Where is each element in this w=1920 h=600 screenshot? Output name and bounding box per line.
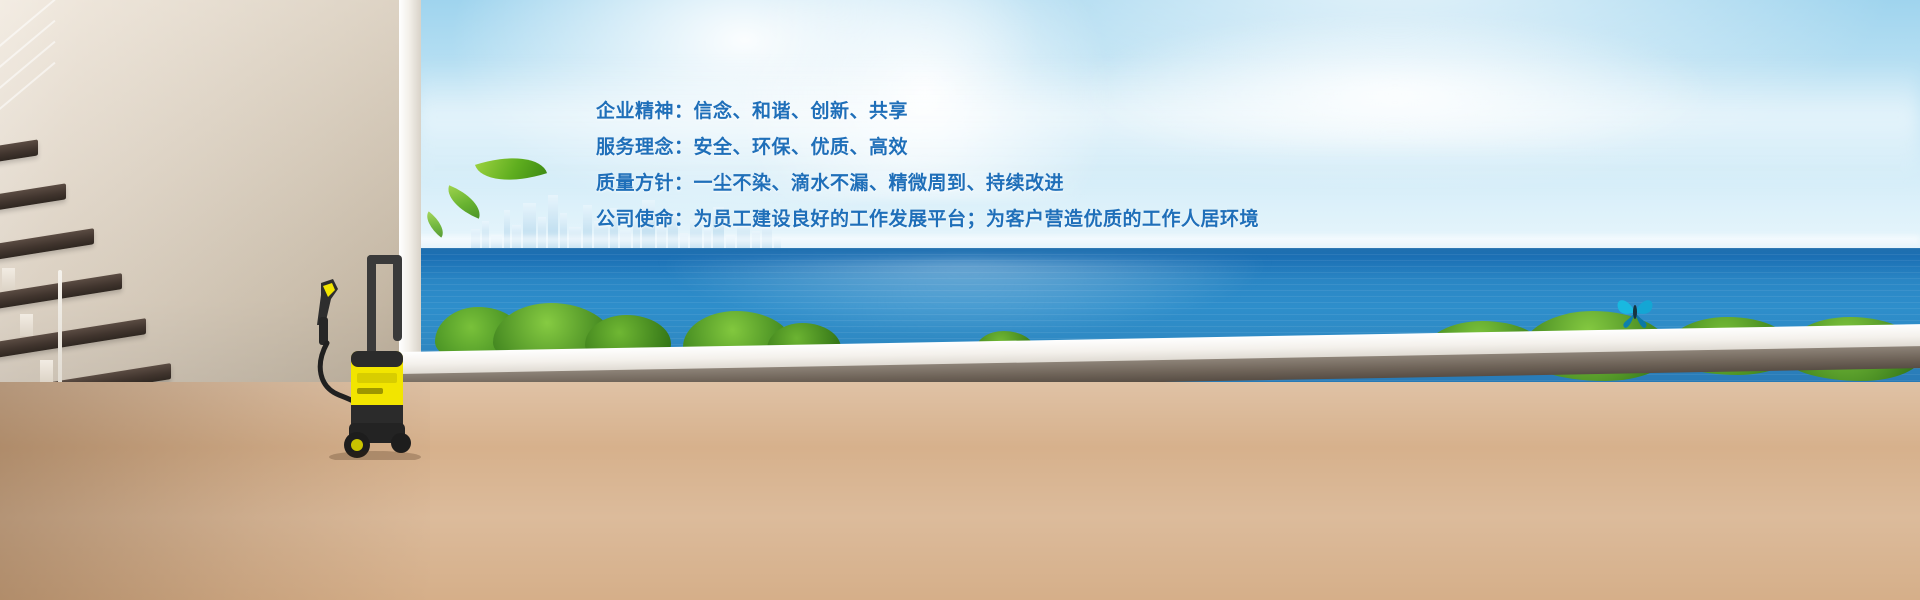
butterfly-icon [1613, 288, 1657, 332]
pressure-washer [305, 255, 425, 460]
flying-leaf-icon [460, 148, 580, 238]
banner-stage: 企业精神：信念、和谐、创新、共享 服务理念：安全、环保、优质、高效 质量方针：一… [0, 0, 1920, 600]
slogan-line-2: 服务理念：安全、环保、优质、高效 [596, 130, 1356, 166]
slogan-line-1: 企业精神：信念、和谐、创新、共享 [596, 94, 1356, 130]
slogan-line-3: 质量方针：一尘不染、滴水不漏、精微周到、持续改进 [596, 166, 1356, 202]
slogan-text-block: 企业精神：信念、和谐、创新、共享 服务理念：安全、环保、优质、高效 质量方针：一… [596, 94, 1356, 238]
slogan-line-4: 公司使命：为员工建设良好的工作发展平台；为客户营造优质的工作人居环境 [596, 202, 1356, 238]
